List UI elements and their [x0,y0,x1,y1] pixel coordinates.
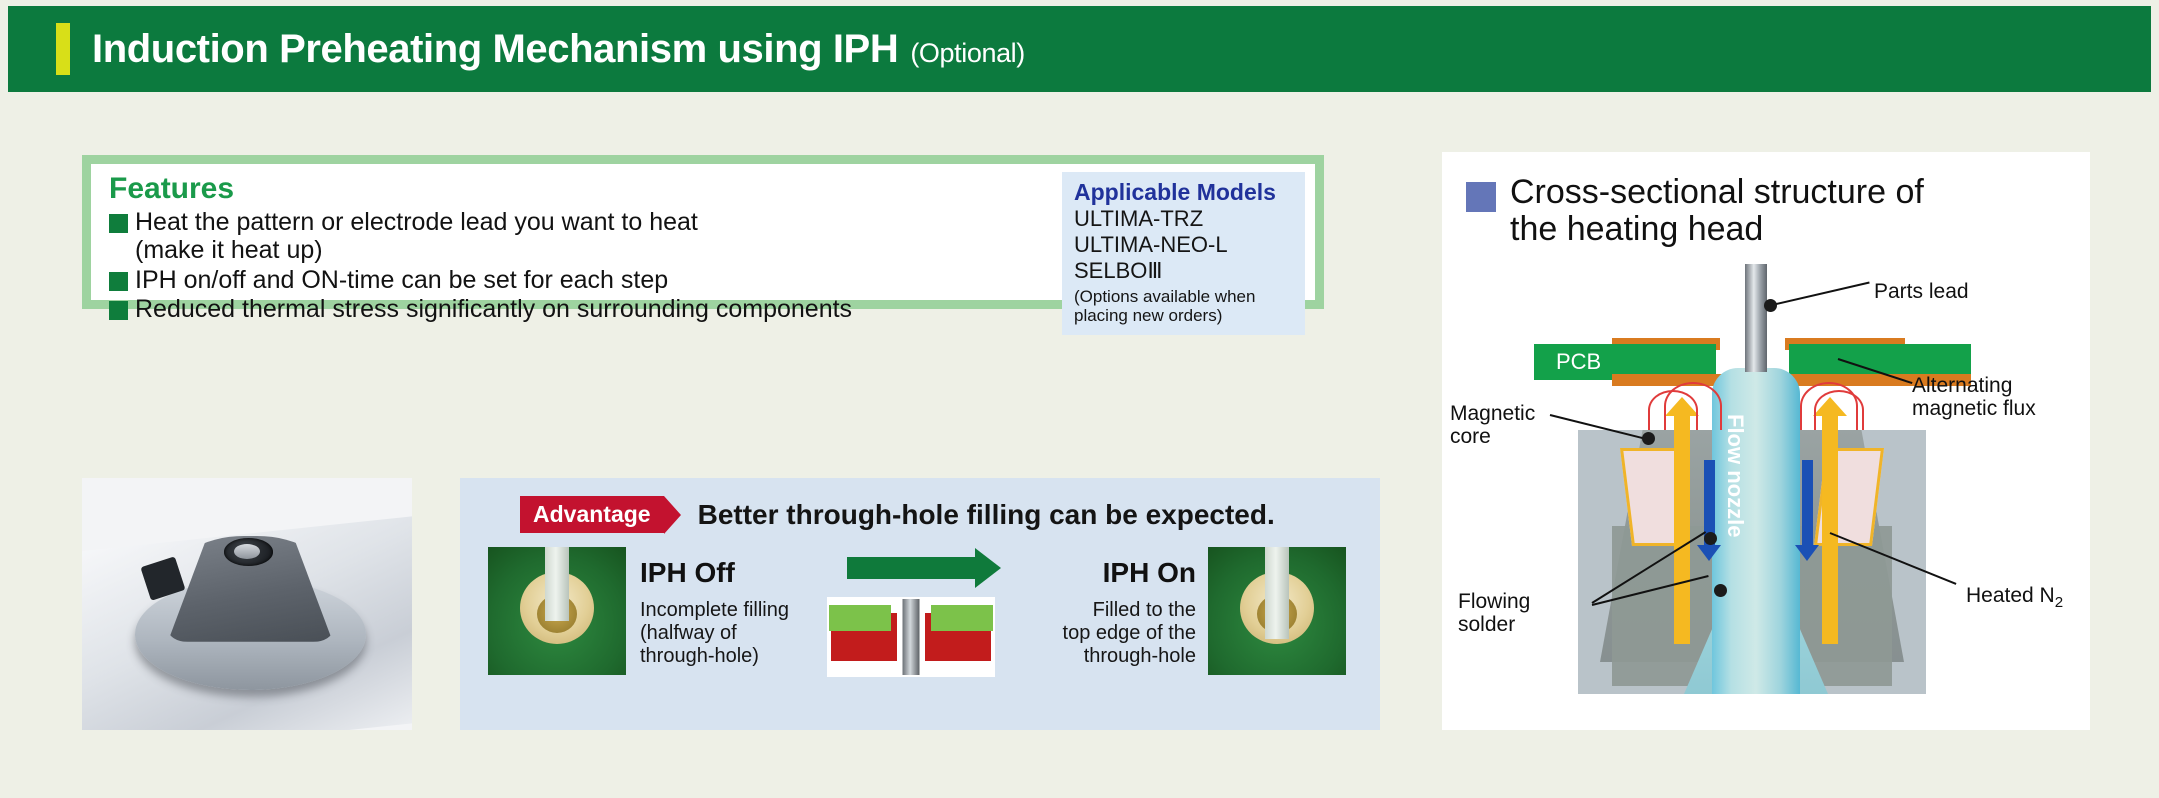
heating-head-photo [82,478,412,730]
label-pcb: PCB [1556,350,1601,374]
iph-on-title: IPH On [1031,559,1196,587]
label-alternating-flux-line2: magnetic flux [1912,397,2036,420]
square-bullet-icon [1466,182,1496,212]
page-header: Induction Preheating Mechanism using IPH… [8,6,2151,92]
label-heated-n2-sub: 2 [2055,594,2063,611]
iph-off-photo [488,547,626,675]
advantage-comparison: IPH Off Incomplete filling(halfway ofthr… [488,547,1380,677]
heated-n2-arrow-left [1674,414,1690,644]
flowing-solder-arrow-right [1802,460,1813,546]
xsec-board-left [829,605,891,631]
advantage-badge: Advantage [520,496,664,533]
applicable-models-heading: Applicable Models [1074,179,1295,205]
label-flowing-solder: Flowing solder [1458,590,1530,636]
iph-off-lead [545,547,569,621]
iph-on-text: IPH On Filled to thetop edge of thethrou… [1031,547,1196,669]
label-magnetic-core-line2: core [1450,425,1491,448]
applicable-models-box: Applicable Models ULTIMA-TRZ ULTIMA-NEO-… [1062,172,1305,335]
iph-off-title: IPH Off [640,559,805,587]
anchor-flowing-solder-1 [1704,532,1717,545]
flux-arc-r2 [1800,382,1858,430]
anchor-flowing-solder-2 [1714,584,1727,597]
photo-center-screw [234,544,260,559]
cross-section-title: Cross-sectional structure of the heating… [1510,174,1924,247]
advantage-headline: Better through-hole filling can be expec… [698,499,1275,531]
cross-section-title-line2: the heating head [1510,210,1763,248]
page-title: Induction Preheating Mechanism using IPH… [92,27,1025,72]
iph-on-lead [1265,547,1289,639]
flux-arc-l2 [1664,382,1722,430]
xsec-lead-pin [903,599,920,675]
label-magnetic-core-line1: Magnetic [1450,402,1535,425]
page-title-text: Induction Preheating Mechanism using IPH [92,27,898,71]
iph-off-description: Incomplete filling(halfway ofthrough-hol… [640,599,805,669]
applicable-models-note: (Options available when placing new orde… [1074,287,1295,325]
label-heated-n2: Heated N2 [1966,584,2063,612]
label-heated-n2-text: Heated N [1966,584,2055,607]
square-bullet-icon [109,214,128,233]
cross-section-title-line1: Cross-sectional structure of [1510,173,1924,211]
advantage-bar: Advantage Better through-hole filling ca… [520,496,1380,533]
transition-arrow-row [811,547,1011,589]
iph-on-photo [1208,547,1346,675]
header-accent-bar [56,23,70,75]
cross-section-panel: Cross-sectional structure of the heating… [1442,152,2090,730]
label-flowing-solder-line2: solder [1458,613,1515,636]
right-arrow-icon [847,557,975,579]
features-panel-inner: Features Heat the pattern or electrode l… [91,164,1315,300]
heating-head-diagram: PCB Flow nozzle [1552,264,1952,694]
through-hole-cross-section [827,597,995,677]
label-parts-lead: Parts lead [1874,280,1969,303]
page-title-optional: (Optional) [910,38,1025,68]
xsec-board-right [931,605,993,631]
anchor-parts-lead [1764,299,1777,312]
label-alternating-flux-line1: Alternating [1912,374,2012,397]
features-panel: Features Heat the pattern or electrode l… [82,155,1324,309]
anchor-magnetic-core [1642,432,1655,445]
label-alternating-flux: Alternating magnetic flux [1912,374,2036,420]
applicable-model-1: ULTIMA-TRZ [1074,206,1295,232]
iph-off-text: IPH Off Incomplete filling(halfway ofthr… [640,547,805,669]
diagram-parts-lead [1745,264,1767,372]
label-flow-nozzle: Flow nozzle [1722,414,1748,537]
square-bullet-icon [109,272,128,291]
feature-item-1-line1: Heat the pattern or electrode lead you w… [135,208,698,236]
through-hole-schematic [811,547,1011,677]
advantage-panel: Advantage Better through-hole filling ca… [460,478,1380,730]
cross-section-header: Cross-sectional structure of the heating… [1442,152,2090,247]
label-magnetic-core: Magnetic core [1450,402,1535,448]
square-bullet-icon [109,301,128,320]
heated-n2-arrow-right [1822,414,1838,644]
iph-on-description: Filled to thetop edge of thethrough-hole [1031,599,1196,669]
label-flowing-solder-line1: Flowing [1458,590,1530,613]
applicable-model-3: SELBOⅢ [1074,258,1295,284]
applicable-model-2: ULTIMA-NEO-L [1074,232,1295,258]
